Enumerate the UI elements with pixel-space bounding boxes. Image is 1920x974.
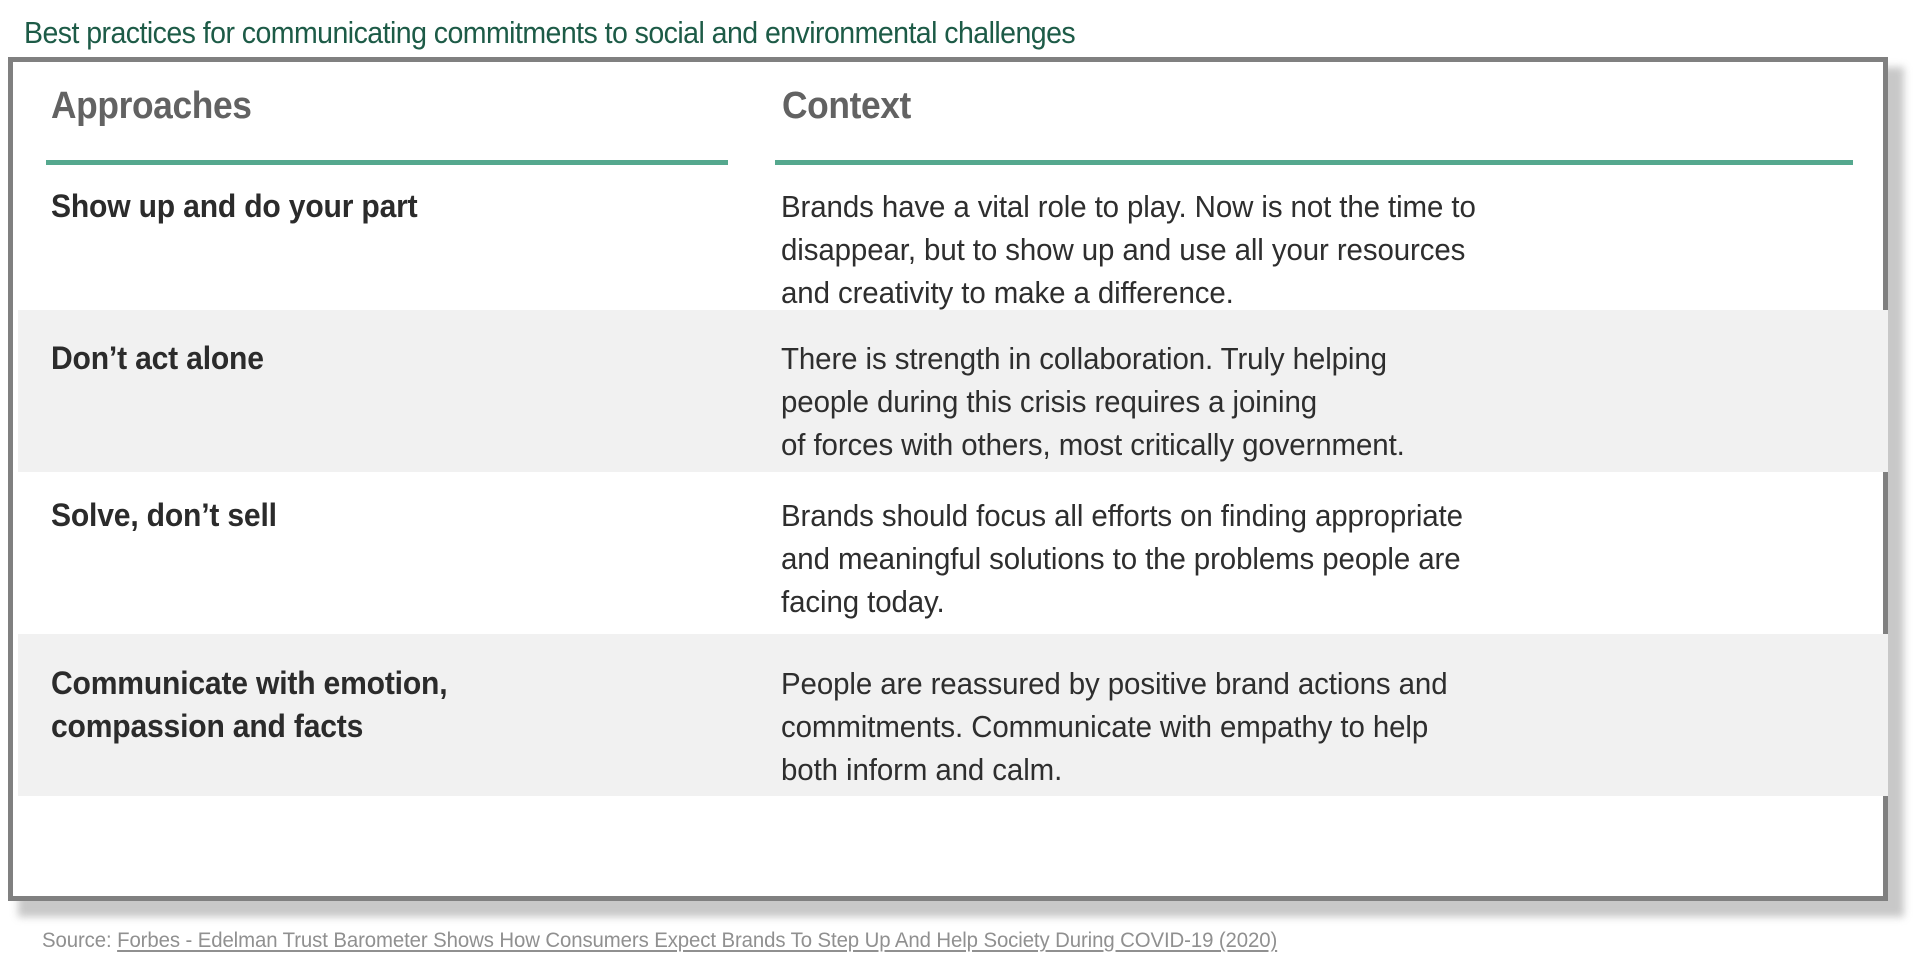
table-row: Don’t act alone There is strength in col… xyxy=(18,310,1888,472)
cell-approach: Show up and do your part xyxy=(51,185,709,228)
header-rule-context xyxy=(775,160,1853,165)
cell-context: People are reassured by positive brand a… xyxy=(781,662,1817,791)
table-row: Communicate with emotion, compassion and… xyxy=(18,634,1888,796)
table-row: Solve, don’t sell Brands should focus al… xyxy=(18,472,1888,634)
best-practices-table: Approaches Context Show up and do your p… xyxy=(18,67,1888,901)
table-frame: Approaches Context Show up and do your p… xyxy=(8,57,1888,901)
slide: Best practices for communicating commitm… xyxy=(0,0,1920,974)
cell-context: Brands should focus all efforts on findi… xyxy=(781,494,1817,623)
table-header-row: Approaches Context xyxy=(18,67,1888,167)
source-label: Source: xyxy=(42,929,117,952)
cell-context: Brands have a vital role to play. Now is… xyxy=(781,185,1817,314)
source-note: Source: Forbes - Edelman Trust Barometer… xyxy=(42,928,1277,954)
source-link[interactable]: Forbes - Edelman Trust Barometer Shows H… xyxy=(117,929,1277,952)
column-header-context: Context xyxy=(782,85,911,128)
header-rule-approaches xyxy=(46,160,728,165)
cell-approach: Communicate with emotion, compassion and… xyxy=(51,662,709,748)
table-row: Show up and do your part Brands have a v… xyxy=(18,167,1888,310)
cell-context: There is strength in collaboration. Trul… xyxy=(781,337,1817,466)
cell-approach: Don’t act alone xyxy=(51,337,709,380)
slide-title: Best practices for communicating commitm… xyxy=(24,14,1588,52)
cell-approach: Solve, don’t sell xyxy=(51,494,709,537)
column-header-approaches: Approaches xyxy=(51,85,252,128)
table-card: Approaches Context Show up and do your p… xyxy=(8,57,1904,917)
